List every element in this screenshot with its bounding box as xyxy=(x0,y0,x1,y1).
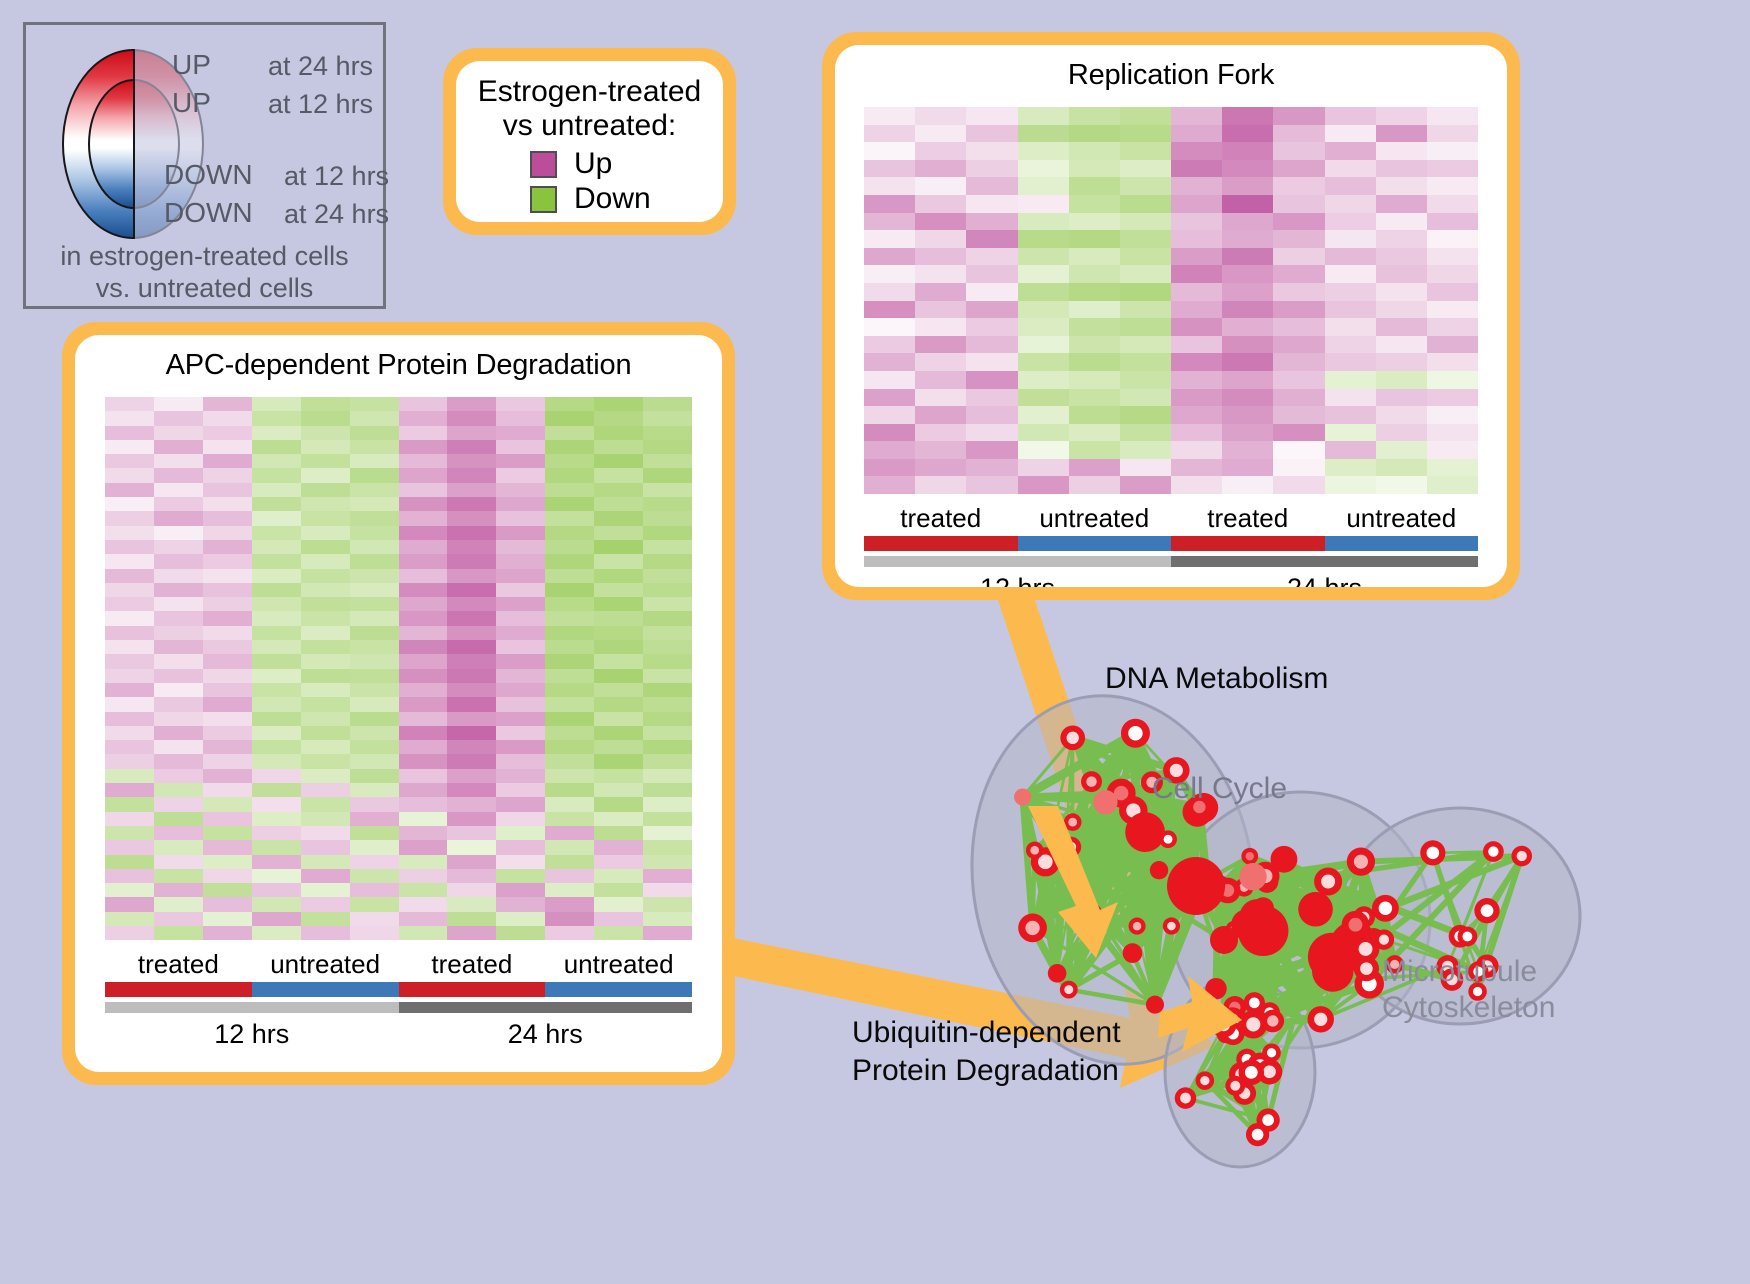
heatmap-cell xyxy=(594,783,643,797)
heatmap-cell xyxy=(966,177,1017,195)
heatmap-cell xyxy=(301,426,350,440)
network-node-core xyxy=(1462,932,1472,942)
heatmap-cell xyxy=(594,869,643,883)
heatmap-cell xyxy=(350,683,399,697)
heatmap-cell xyxy=(1018,142,1069,160)
key-time-down-12: at 12 hrs xyxy=(284,161,389,192)
heatmap-cell xyxy=(1376,283,1427,301)
heatmap-cell xyxy=(1069,371,1120,389)
heatmap-cell xyxy=(203,797,252,811)
heatmap-cell xyxy=(1222,125,1273,143)
heatmap-cell xyxy=(350,554,399,568)
heatmap-cell xyxy=(105,869,154,883)
heatmap-cell xyxy=(594,454,643,468)
heatmap-cell xyxy=(1120,283,1171,301)
heatmap-cell xyxy=(1273,441,1324,459)
heatmap-cell xyxy=(447,540,496,554)
heatmap-cell xyxy=(252,626,301,640)
heatmap-cell xyxy=(1120,353,1171,371)
heatmap-cell xyxy=(350,740,399,754)
heatmap-cell xyxy=(154,597,203,611)
heatmap-cell xyxy=(496,912,545,926)
heatmap-cell xyxy=(154,783,203,797)
replication-fork-heatmap xyxy=(864,107,1478,494)
heatmap-cell xyxy=(350,826,399,840)
heatmap-cell xyxy=(643,411,692,425)
heatmap-cell xyxy=(1273,389,1324,407)
heatmap-cell xyxy=(447,869,496,883)
group-bar-untreated-12 xyxy=(252,982,399,997)
heatmap-cell xyxy=(594,611,643,625)
heatmap-cell xyxy=(1325,424,1376,442)
heatmap-cell xyxy=(447,712,496,726)
heatmap-cell xyxy=(1120,476,1171,494)
heatmap-cell xyxy=(1018,318,1069,336)
heatmap-cell xyxy=(203,468,252,482)
heatmap-cell xyxy=(399,483,448,497)
heatmap-cell xyxy=(252,411,301,425)
heatmap-cell xyxy=(643,583,692,597)
heatmap-cell xyxy=(594,640,643,654)
heatmap-cell xyxy=(594,626,643,640)
heatmap-cell xyxy=(301,869,350,883)
heatmap-cell xyxy=(643,912,692,926)
heatmap-cell xyxy=(915,301,966,319)
heatmap-cell xyxy=(154,697,203,711)
heatmap-cell xyxy=(496,754,545,768)
heatmap-cell xyxy=(252,569,301,583)
heatmap-cell xyxy=(252,840,301,854)
heatmap-cell xyxy=(966,125,1017,143)
network-diagram: DNA Metabolism Cell Cycle Microtubule Cy… xyxy=(800,620,1750,1279)
heatmap-cell xyxy=(105,511,154,525)
group-bar-untreated-24 xyxy=(1325,536,1479,551)
heatmap-cell xyxy=(203,826,252,840)
heatmap-cell xyxy=(643,869,692,883)
heatmap-cell xyxy=(1171,265,1222,283)
heatmap-cell xyxy=(1427,230,1478,248)
heatmap-cell xyxy=(203,683,252,697)
heatmap-cell xyxy=(1069,283,1120,301)
heatmap-cell xyxy=(1018,336,1069,354)
heatmap-cell xyxy=(643,826,692,840)
heatmap-cell xyxy=(1376,265,1427,283)
heatmap-cell xyxy=(1018,107,1069,125)
heatmap-cell xyxy=(447,740,496,754)
heatmap-cell xyxy=(1376,476,1427,494)
heatmap-cell xyxy=(1069,459,1120,477)
heatmap-cell xyxy=(545,583,594,597)
group-bar-untreated-12 xyxy=(1018,536,1172,551)
heatmap-cell xyxy=(1222,265,1273,283)
heatmap-cell xyxy=(864,195,915,213)
heatmap-cell xyxy=(252,855,301,869)
heatmap-cell xyxy=(1376,142,1427,160)
heatmap-cell xyxy=(447,754,496,768)
heatmap-cell xyxy=(966,248,1017,266)
heatmap-cell xyxy=(545,754,594,768)
heatmap-cell xyxy=(203,454,252,468)
heatmap-cell xyxy=(1222,406,1273,424)
heatmap-cell xyxy=(1325,125,1376,143)
network-node-core xyxy=(1230,1081,1240,1091)
heatmap-cell xyxy=(350,897,399,911)
heatmap-cell xyxy=(594,769,643,783)
heatmap-cell xyxy=(594,468,643,482)
heatmap-cell xyxy=(447,683,496,697)
heatmap-cell xyxy=(399,869,448,883)
heatmap-cell xyxy=(1018,389,1069,407)
heatmap-cell xyxy=(1427,424,1478,442)
heatmap-cell xyxy=(203,883,252,897)
heatmap-cell xyxy=(301,683,350,697)
heatmap-cell xyxy=(966,389,1017,407)
heatmap-cell xyxy=(399,397,448,411)
heatmap-cell xyxy=(447,454,496,468)
heatmap-cell xyxy=(350,883,399,897)
network-node-core xyxy=(1154,866,1163,875)
heatmap-cell xyxy=(643,740,692,754)
network-node-core xyxy=(1150,1000,1159,1009)
heatmap-cell xyxy=(1376,177,1427,195)
cluster-label-dna-metabolism: DNA Metabolism xyxy=(1105,662,1328,696)
heatmap-cell xyxy=(915,318,966,336)
heatmap-cell xyxy=(643,783,692,797)
heatmap-cell xyxy=(301,526,350,540)
network-node xyxy=(1093,790,1117,814)
heatmap-cell xyxy=(1427,248,1478,266)
heatmap-cell xyxy=(1018,265,1069,283)
heatmap-cell xyxy=(915,424,966,442)
heatmap-cell xyxy=(864,213,915,231)
heatmap-cell xyxy=(1069,160,1120,178)
heatmap-cell xyxy=(252,826,301,840)
heatmap-cell xyxy=(545,597,594,611)
heatmap-cell xyxy=(301,554,350,568)
network-node-core xyxy=(1068,818,1077,827)
network-node-core xyxy=(1133,922,1142,931)
heatmap-cell xyxy=(496,726,545,740)
heatmap-cell xyxy=(1171,248,1222,266)
heatmap-cell xyxy=(643,454,692,468)
heatmap-cell xyxy=(301,826,350,840)
time-label-24hrs: 24 hrs xyxy=(1171,573,1478,587)
network-node-core xyxy=(1030,846,1039,855)
heatmap-cell xyxy=(399,640,448,654)
heatmap-cell xyxy=(545,797,594,811)
heatmap-cell xyxy=(301,540,350,554)
legend-heading: Estrogen-treated vs untreated: xyxy=(456,61,723,142)
heatmap-cell xyxy=(399,754,448,768)
heatmap-cell xyxy=(105,583,154,597)
legend-heading-line2: vs untreated: xyxy=(456,109,723,143)
heatmap-cell xyxy=(154,468,203,482)
heatmap-cell xyxy=(1069,213,1120,231)
heatmap-cell xyxy=(864,353,915,371)
heatmap-cell xyxy=(105,754,154,768)
heatmap-cell xyxy=(252,797,301,811)
replication-fork-panel: Replication Fork treated untreated treat… xyxy=(822,32,1520,600)
heatmap-cell xyxy=(1120,459,1171,477)
network-node-core xyxy=(1067,732,1079,744)
heatmap-cell xyxy=(1325,177,1376,195)
color-key-footer: in estrogen-treated cells vs. untreated … xyxy=(26,241,383,305)
heatmap-cell xyxy=(1376,160,1427,178)
heatmap-cell xyxy=(447,583,496,597)
heatmap-cell xyxy=(1171,336,1222,354)
heatmap-cell xyxy=(154,754,203,768)
heatmap-cell xyxy=(496,883,545,897)
heatmap-cell xyxy=(1171,459,1222,477)
heatmap-cell xyxy=(915,283,966,301)
heatmap-cell xyxy=(545,526,594,540)
heatmap-cell xyxy=(1171,195,1222,213)
heatmap-cell xyxy=(1273,406,1324,424)
heatmap-cell xyxy=(350,397,399,411)
heatmap-cell xyxy=(1376,424,1427,442)
heatmap-cell xyxy=(1325,230,1376,248)
heatmap-cell xyxy=(594,569,643,583)
heatmap-cell xyxy=(203,926,252,940)
heatmap-cell xyxy=(399,712,448,726)
heatmap-cell xyxy=(154,511,203,525)
heatmap-cell xyxy=(105,826,154,840)
network-node-core xyxy=(1349,918,1363,932)
heatmap-cell xyxy=(545,554,594,568)
heatmap-cell xyxy=(545,712,594,726)
key-time-up-12: at 12 hrs xyxy=(268,89,373,120)
heatmap-cell xyxy=(496,426,545,440)
network-node xyxy=(1240,899,1275,934)
heatmap-cell xyxy=(399,626,448,640)
heatmap-cell xyxy=(399,926,448,940)
heatmap-cell xyxy=(399,797,448,811)
heatmap-cell xyxy=(966,301,1017,319)
heatmap-cell xyxy=(545,697,594,711)
heatmap-cell xyxy=(203,754,252,768)
heatmap-cell xyxy=(496,583,545,597)
heatmap-cell xyxy=(1069,476,1120,494)
heatmap-cell xyxy=(1222,283,1273,301)
heatmap-cell xyxy=(496,511,545,525)
heatmap-cell xyxy=(545,883,594,897)
heatmap-cell xyxy=(301,583,350,597)
heatmap-cell xyxy=(594,526,643,540)
network-node-core xyxy=(1262,1114,1274,1126)
heatmap-cell xyxy=(1376,336,1427,354)
heatmap-cell xyxy=(864,389,915,407)
heatmap-cell xyxy=(915,459,966,477)
heatmap-cell xyxy=(545,626,594,640)
heatmap-cell xyxy=(154,497,203,511)
heatmap-cell xyxy=(301,783,350,797)
heatmap-cell xyxy=(1069,301,1120,319)
heatmap-cell xyxy=(399,426,448,440)
heatmap-cell xyxy=(966,265,1017,283)
heatmap-cell xyxy=(301,712,350,726)
heatmap-cell xyxy=(154,712,203,726)
group-bar-treated-12 xyxy=(864,536,1018,551)
heatmap-cell xyxy=(350,769,399,783)
heatmap-cell xyxy=(1069,424,1120,442)
apc-time-labels: 12 hrs 24 hrs xyxy=(105,1019,692,1050)
heatmap-cell xyxy=(447,826,496,840)
network-node-core xyxy=(1249,997,1260,1008)
heatmap-cell xyxy=(594,683,643,697)
heatmap-cell xyxy=(915,142,966,160)
heatmap-cell xyxy=(594,669,643,683)
heatmap-cell xyxy=(594,426,643,440)
heatmap-cell xyxy=(594,583,643,597)
heatmap-cell xyxy=(203,569,252,583)
heatmap-cell xyxy=(1376,389,1427,407)
heatmap-cell xyxy=(447,654,496,668)
heatmap-cell xyxy=(154,640,203,654)
heatmap-cell xyxy=(301,626,350,640)
heatmap-cell xyxy=(350,912,399,926)
time-label-12hrs: 12 hrs xyxy=(864,573,1171,587)
group-label-treated-24: treated xyxy=(1171,503,1325,534)
heatmap-cell xyxy=(105,912,154,926)
heatmap-cell xyxy=(545,669,594,683)
heatmap-cell xyxy=(154,912,203,926)
heatmap-cell xyxy=(447,640,496,654)
heatmap-cell xyxy=(1222,459,1273,477)
heatmap-cell xyxy=(1120,195,1171,213)
group-label-treated-12: treated xyxy=(864,503,1018,534)
heatmap-cell xyxy=(399,783,448,797)
heatmap-cell xyxy=(399,769,448,783)
heatmap-cell xyxy=(643,540,692,554)
heatmap-cell xyxy=(643,683,692,697)
heatmap-cell xyxy=(545,497,594,511)
group-label-untreated-24: untreated xyxy=(545,949,692,980)
heatmap-cell xyxy=(1427,265,1478,283)
heatmap-cell xyxy=(252,640,301,654)
heatmap-cell xyxy=(1427,177,1478,195)
heatmap-cell xyxy=(1273,301,1324,319)
time-label-24hrs: 24 hrs xyxy=(399,1019,693,1050)
heatmap-cell xyxy=(301,769,350,783)
heatmap-cell xyxy=(496,797,545,811)
heatmap-cell xyxy=(252,883,301,897)
heatmap-cell xyxy=(1018,177,1069,195)
group-bar-treated-24 xyxy=(399,982,546,997)
heatmap-cell xyxy=(1376,230,1427,248)
heatmap-cell xyxy=(203,769,252,783)
heatmap-cell xyxy=(105,812,154,826)
heatmap-cell xyxy=(203,497,252,511)
heatmap-cell xyxy=(1069,195,1120,213)
heatmap-cell xyxy=(545,869,594,883)
heatmap-cell xyxy=(1427,195,1478,213)
heatmap-cell xyxy=(1069,177,1120,195)
heatmap-cell xyxy=(1273,160,1324,178)
heatmap-cell xyxy=(105,540,154,554)
heatmap-cell xyxy=(399,597,448,611)
heatmap-cell xyxy=(1427,371,1478,389)
heatmap-cell xyxy=(545,440,594,454)
ring-center-axis xyxy=(133,49,135,239)
heatmap-cell xyxy=(350,440,399,454)
heatmap-cell xyxy=(864,424,915,442)
heatmap-cell xyxy=(1273,177,1324,195)
group-label-untreated-24: untreated xyxy=(1325,503,1479,534)
heatmap-cell xyxy=(203,712,252,726)
heatmap-cell xyxy=(1171,424,1222,442)
heatmap-cell xyxy=(252,597,301,611)
heatmap-cell xyxy=(1069,125,1120,143)
heatmap-cell xyxy=(447,526,496,540)
heatmap-cell xyxy=(154,897,203,911)
heatmap-cell xyxy=(252,669,301,683)
heatmap-cell xyxy=(643,855,692,869)
heatmap-cell xyxy=(643,569,692,583)
heatmap-cell xyxy=(447,783,496,797)
heatmap-cell xyxy=(154,526,203,540)
heatmap-cell xyxy=(350,483,399,497)
heatmap-cell xyxy=(399,826,448,840)
heatmap-cell xyxy=(545,411,594,425)
network-node-core xyxy=(1359,942,1373,956)
heatmap-cell xyxy=(1325,476,1376,494)
heatmap-cell xyxy=(1018,230,1069,248)
heatmap-cell xyxy=(1222,389,1273,407)
heatmap-cell xyxy=(915,160,966,178)
heatmap-cell xyxy=(594,597,643,611)
heatmap-cell xyxy=(915,371,966,389)
heatmap-cell xyxy=(643,468,692,482)
heatmap-cell xyxy=(496,669,545,683)
heatmap-cell xyxy=(301,840,350,854)
heatmap-cell xyxy=(966,353,1017,371)
heatmap-cell xyxy=(350,569,399,583)
heatmap-cell xyxy=(496,540,545,554)
heatmap-cell xyxy=(105,769,154,783)
heatmap-cell xyxy=(447,726,496,740)
heatmap-cell xyxy=(1273,248,1324,266)
heatmap-cell xyxy=(203,697,252,711)
heatmap-cell xyxy=(1120,389,1171,407)
heatmap-cell xyxy=(1273,125,1324,143)
heatmap-cell xyxy=(545,783,594,797)
network-node-core xyxy=(1200,1076,1209,1085)
heatmap-cell xyxy=(154,483,203,497)
heatmap-cell xyxy=(1018,160,1069,178)
heatmap-cell xyxy=(399,654,448,668)
heatmap-cell xyxy=(1325,142,1376,160)
heatmap-cell xyxy=(545,769,594,783)
network-node-core xyxy=(1488,846,1498,856)
heatmap-cell xyxy=(1069,265,1120,283)
heatmap-cell xyxy=(1171,389,1222,407)
heatmap-cell xyxy=(643,897,692,911)
heatmap-cell xyxy=(447,926,496,940)
heatmap-cell xyxy=(1222,107,1273,125)
heatmap-cell xyxy=(1171,353,1222,371)
heatmap-cell xyxy=(643,626,692,640)
heatmap-cell xyxy=(594,511,643,525)
heatmap-cell xyxy=(915,248,966,266)
heatmap-cell xyxy=(545,454,594,468)
heatmap-cell xyxy=(915,389,966,407)
heatmap-cell xyxy=(105,426,154,440)
color-key-footer-line2: vs. untreated cells xyxy=(26,273,383,305)
heatmap-cell xyxy=(643,712,692,726)
heatmap-cell xyxy=(915,353,966,371)
heatmap-cell xyxy=(1273,213,1324,231)
heatmap-cell xyxy=(643,526,692,540)
